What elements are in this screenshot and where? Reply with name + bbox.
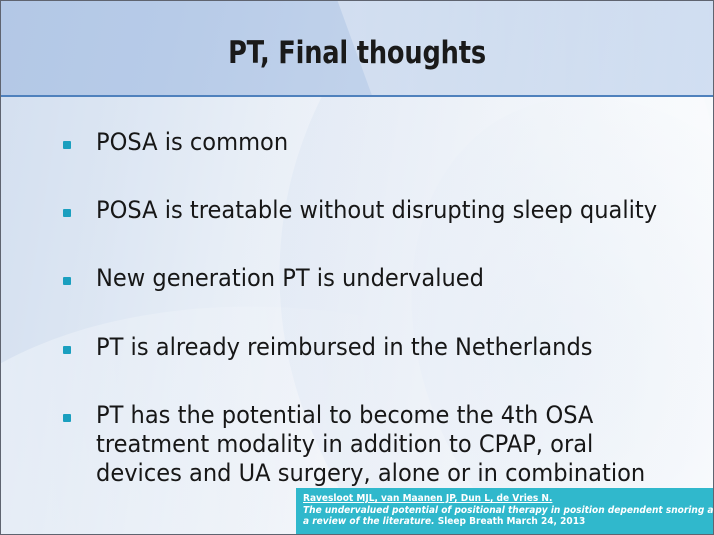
bullet-marker-icon bbox=[63, 277, 71, 285]
list-item: New generation PT is undervalued bbox=[63, 264, 509, 293]
slide-header-band: PT, Final thoughts bbox=[1, 1, 713, 97]
citation-article-title-line-2: a review of the literature. Sleep Breath… bbox=[303, 516, 689, 528]
bullet-text: POSA is treatable without disrupting sle… bbox=[96, 196, 657, 225]
list-item: POSA is common bbox=[63, 128, 300, 157]
citation-journal-reference: Sleep Breath March 24, 2013 bbox=[435, 516, 586, 527]
list-item: POSA is treatable without disrupting sle… bbox=[63, 196, 693, 225]
slide-title: PT, Final thoughts bbox=[29, 35, 684, 71]
citation-article-title-line-1: The undervalued potential of positional … bbox=[303, 505, 689, 517]
bullet-text: PT has the potential to become the 4th O… bbox=[96, 401, 645, 488]
bullet-marker-icon bbox=[63, 141, 71, 149]
presentation-slide: PT, Final thoughts POSA is common POSA i… bbox=[0, 0, 714, 535]
citation-authors: Ravesloot MJL, van Maanen JP, Dun L, de … bbox=[303, 493, 689, 505]
bullet-marker-icon bbox=[63, 414, 71, 422]
list-item: PT has the potential to become the 4th O… bbox=[63, 401, 680, 488]
bullet-marker-icon bbox=[63, 209, 71, 217]
citation-article-title-end: a review of the literature. bbox=[303, 516, 435, 527]
bullet-text: New generation PT is undervalued bbox=[96, 264, 484, 293]
bullet-text: PT is already reimbursed in the Netherla… bbox=[96, 333, 593, 362]
bullet-text: POSA is common bbox=[96, 128, 288, 157]
list-item: PT is already reimbursed in the Netherla… bbox=[63, 333, 624, 362]
slide-body: POSA is common POSA is treatable without… bbox=[1, 100, 714, 535]
citation-box: Ravesloot MJL, van Maanen JP, Dun L, de … bbox=[296, 488, 714, 535]
bullet-marker-icon bbox=[63, 346, 71, 354]
